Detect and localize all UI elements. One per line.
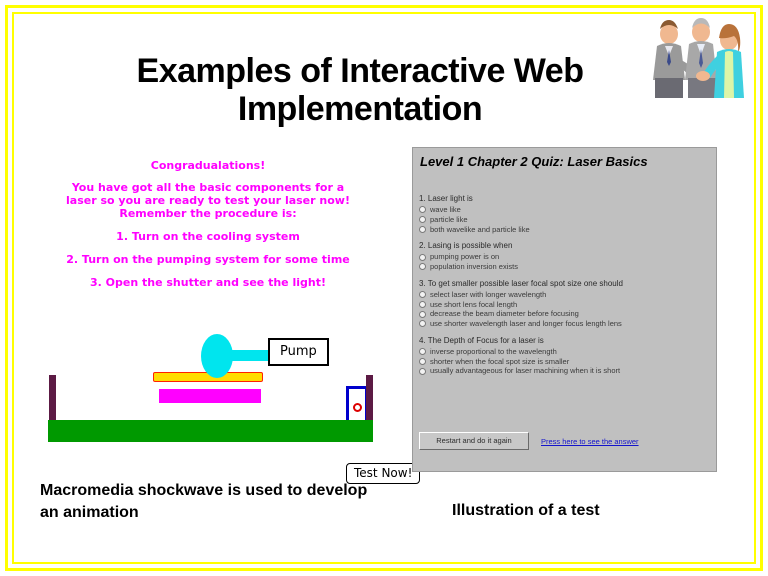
option-label: decrease the beam diameter before focusi… — [430, 309, 579, 319]
quiz-option[interactable]: usually advantageous for laser machining… — [419, 366, 712, 376]
quiz-option[interactable]: shorter when the focal spot size is smal… — [419, 357, 712, 367]
quiz-question: 4. The Depth of Focus for a laser is inv… — [419, 336, 712, 376]
radio-button-icon[interactable] — [419, 263, 426, 270]
option-label: usually advantageous for laser machining… — [430, 366, 620, 376]
slide: Examples of Interactive Web Implementati… — [0, 0, 768, 576]
quiz-question: 2. Lasing is possible when pumping power… — [419, 241, 712, 272]
option-label: wave like — [430, 205, 461, 215]
quiz-option[interactable]: select laser with longer wavelength — [419, 290, 712, 300]
apparatus-base — [48, 420, 373, 442]
option-label: pumping power is on — [430, 252, 499, 262]
shockwave-animation-panel: Congradualations! You have got all the b… — [38, 160, 378, 450]
apparatus-post-right — [366, 375, 373, 420]
quiz-option[interactable]: particle like — [419, 215, 712, 225]
quiz-option[interactable]: wave like — [419, 205, 712, 215]
quiz-panel: Level 1 Chapter 2 Quiz: Laser Basics 1. … — [412, 147, 717, 472]
option-label: use short lens focal length — [430, 300, 517, 310]
option-label: both wavelike and particle like — [430, 225, 530, 235]
radio-button-icon[interactable] — [419, 368, 426, 375]
option-label: select laser with longer wavelength — [430, 290, 546, 300]
quiz-caption: Illustration of a test — [452, 500, 722, 522]
question-text: 3. To get smaller possible laser focal s… — [419, 279, 712, 289]
laser-slab — [159, 389, 261, 403]
radio-button-icon[interactable] — [419, 320, 426, 327]
radio-button-icon[interactable] — [419, 301, 426, 308]
radio-button-icon[interactable] — [419, 216, 426, 223]
page-title: Examples of Interactive Web Implementati… — [60, 52, 660, 128]
quiz-questions: 1. Laser light is wave like particle lik… — [419, 194, 712, 383]
pump-label[interactable]: Pump — [268, 338, 329, 366]
pump-lamp — [201, 334, 233, 378]
question-text: 4. The Depth of Focus for a laser is — [419, 336, 712, 346]
animation-caption: Macromedia shockwave is used to develop … — [40, 480, 370, 523]
radio-button-icon[interactable] — [419, 348, 426, 355]
quiz-question: 3. To get smaller possible laser focal s… — [419, 279, 712, 329]
quiz-option[interactable]: both wavelike and particle like — [419, 225, 712, 235]
radio-button-icon[interactable] — [419, 226, 426, 233]
radio-button-icon[interactable] — [419, 311, 426, 318]
quiz-footer: Restart and do it again Press here to se… — [419, 432, 712, 450]
question-text: 1. Laser light is — [419, 194, 712, 204]
radio-button-icon[interactable] — [419, 291, 426, 298]
quiz-title: Level 1 Chapter 2 Quiz: Laser Basics — [420, 154, 648, 169]
quiz-option[interactable]: decrease the beam diameter before focusi… — [419, 309, 712, 319]
apparatus-post-left — [49, 375, 56, 420]
option-label: particle like — [430, 215, 468, 225]
radio-button-icon[interactable] — [419, 358, 426, 365]
option-label: shorter when the focal spot size is smal… — [430, 357, 569, 367]
laser-apparatus-diagram: Pump — [38, 160, 378, 450]
see-answer-link[interactable]: Press here to see the answer — [541, 437, 639, 446]
option-label: use shorter wavelength laser and longer … — [430, 319, 622, 329]
question-text: 2. Lasing is possible when — [419, 241, 712, 251]
quiz-option[interactable]: pumping power is on — [419, 252, 712, 262]
quiz-option[interactable]: population inversion exists — [419, 262, 712, 272]
option-label: population inversion exists — [430, 262, 518, 272]
quiz-option[interactable]: inverse proportional to the wavelength — [419, 347, 712, 357]
pump-connector — [230, 350, 272, 361]
restart-button[interactable]: Restart and do it again — [419, 432, 529, 450]
option-label: inverse proportional to the wavelength — [430, 347, 557, 357]
radio-button-icon[interactable] — [419, 206, 426, 213]
radio-button-icon[interactable] — [419, 254, 426, 261]
business-people-handshake-icon — [645, 16, 750, 98]
quiz-option[interactable]: use shorter wavelength laser and longer … — [419, 319, 712, 329]
quiz-question: 1. Laser light is wave like particle lik… — [419, 194, 712, 234]
quiz-option[interactable]: use short lens focal length — [419, 300, 712, 310]
